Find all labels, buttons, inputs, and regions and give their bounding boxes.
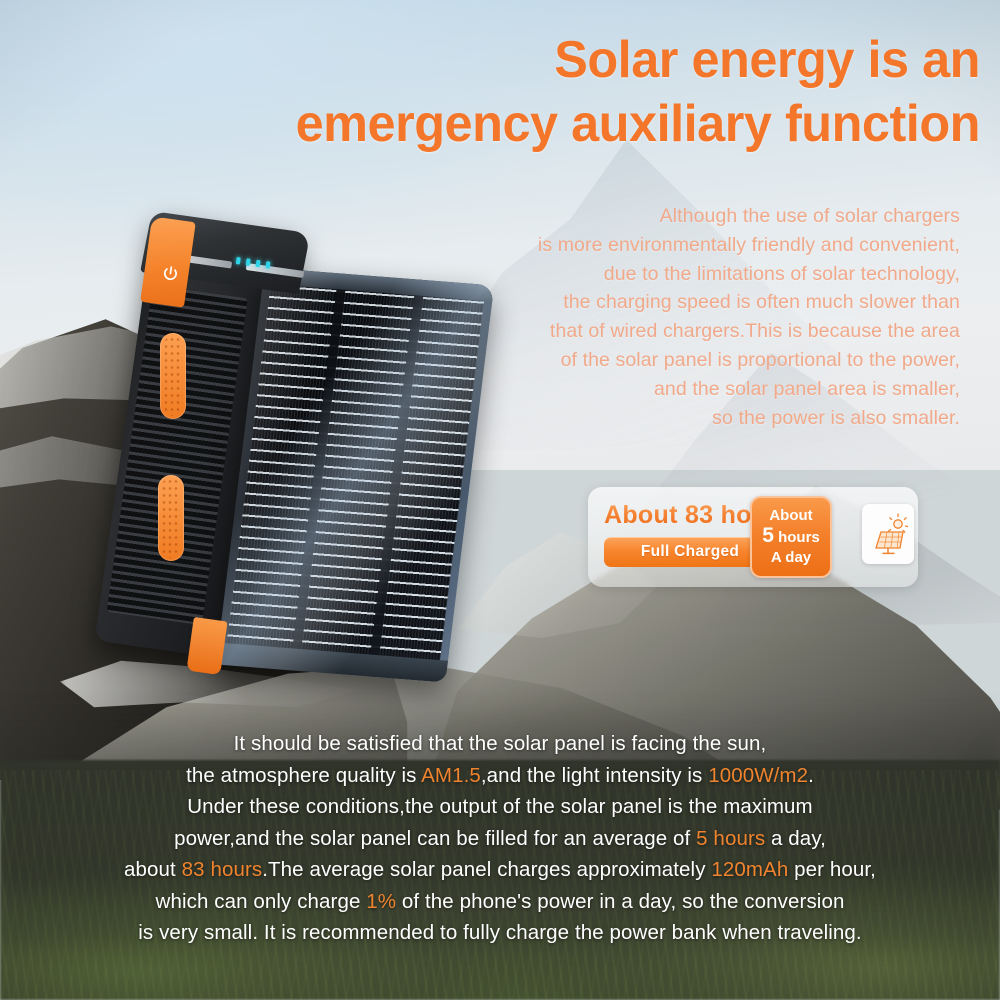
outro-text-run: .	[808, 764, 814, 787]
marketing-banner: Solar energy is an emergency auxiliary f…	[0, 0, 1000, 1000]
highlighted-value: 1000W/m2	[708, 764, 808, 787]
outro-text-run: ,and the light intensity is	[481, 764, 708, 787]
intro-line-8: so the power is also smaller.	[400, 404, 960, 433]
outro-paragraph: It should be satisfied that the solar pa…	[20, 728, 980, 949]
intro-line-5: that of wired chargers.This is because t…	[400, 317, 960, 346]
outro-line-5: about 83 hours.The average solar panel c…	[20, 854, 980, 886]
outro-line-7: is very small. It is recommended to full…	[20, 917, 980, 949]
outro-line-3: Under these conditions,the output of the…	[20, 791, 980, 823]
battery-status-label: Full Charged	[641, 543, 739, 561]
outro-line-2: the atmosphere quality is AM1.5,and the …	[20, 760, 980, 792]
intro-paragraph: Although the use of solar chargersis mor…	[400, 202, 960, 432]
intro-line-2: is more environmentally friendly and con…	[400, 231, 960, 260]
outro-text-run: It should be satisfied that the solar pa…	[234, 732, 767, 755]
intro-line-1: Although the use of solar chargers	[400, 202, 960, 231]
rubber-grip-pad-upper	[160, 333, 186, 419]
outro-line-4: power,and the solar panel can be filled …	[20, 823, 980, 855]
rubber-grip-pad-lower	[158, 475, 184, 561]
highlighted-value: 120mAh	[711, 858, 788, 881]
charge-time-card: About 83 hours Full Charged About 5 hour…	[588, 487, 918, 587]
daily-hours-badge: About 5 hours A day	[750, 496, 832, 578]
outro-text-run: per hour,	[788, 858, 876, 881]
solar-panel-sun-icon	[862, 504, 914, 564]
headline-line-2: emergency auxiliary function	[146, 92, 980, 156]
outro-text-run: about	[124, 858, 182, 881]
led-indicator	[256, 260, 261, 267]
led-indicator	[246, 258, 251, 265]
highlighted-value: 5 hours	[696, 827, 765, 850]
outro-line-1: It should be satisfied that the solar pa…	[20, 728, 980, 760]
outro-text-run: which can only charge	[156, 890, 367, 913]
badge-line-1: About	[752, 507, 830, 525]
outro-text-run: power,and the solar panel can be filled …	[174, 827, 696, 850]
headline-line-1: Solar energy is an	[554, 31, 980, 89]
intro-line-4: the charging speed is often much slower …	[400, 288, 960, 317]
outro-text-run: of the phone's power in a day, so the co…	[396, 890, 844, 913]
intro-line-6: of the solar panel is proportional to th…	[400, 346, 960, 375]
intro-line-3: due to the limitations of solar technolo…	[400, 260, 960, 289]
highlighted-value: 83 hours	[182, 858, 263, 881]
page-title: Solar energy is an emergency auxiliary f…	[146, 28, 980, 156]
intro-line-7: and the solar panel area is smaller,	[400, 375, 960, 404]
highlighted-value: AM1.5	[421, 764, 481, 787]
outro-text-run: a day,	[765, 827, 826, 850]
highlighted-value: 1%	[366, 890, 396, 913]
led-indicator	[266, 261, 271, 268]
power-bank-orange-foot	[186, 617, 227, 675]
led-indicator	[236, 257, 241, 264]
outro-text-run: Under these conditions,the output of the…	[187, 795, 812, 818]
outro-line-6: which can only charge 1% of the phone's …	[20, 886, 980, 918]
badge-line-3: A day	[752, 549, 830, 567]
outro-text-run: the atmosphere quality is	[186, 764, 421, 787]
outro-text-run: is very small. It is recommended to full…	[138, 921, 861, 944]
outro-text-run: .The average solar panel charges approxi…	[262, 858, 711, 881]
badge-hours-unit: hours	[778, 529, 820, 546]
badge-line-2: 5 hours	[752, 526, 830, 548]
badge-hours-number: 5	[762, 524, 774, 547]
